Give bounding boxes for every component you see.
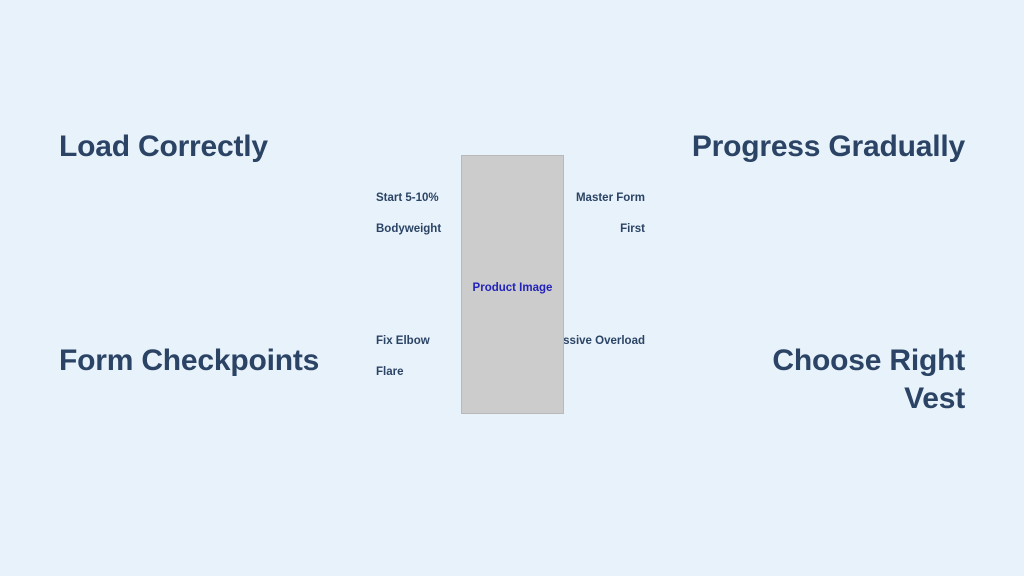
callout-master-form-first: Master Form First: [576, 183, 645, 245]
callout-fix-elbow-flare: Fix Elbow Flare: [376, 326, 430, 388]
product-image-placeholder: Product Image: [461, 155, 564, 414]
product-image-placeholder-label: Product Image: [462, 281, 563, 295]
slide-canvas: Load Correctly Progress Gradually Form C…: [0, 0, 1024, 576]
heading-progress-gradually: Progress Gradually: [692, 128, 965, 166]
heading-load-correctly: Load Correctly: [59, 128, 268, 166]
callout-start-bodyweight: Start 5-10% Bodyweight: [376, 183, 441, 245]
heading-form-checkpoints: Form Checkpoints: [59, 342, 319, 380]
heading-choose-right-vest: Choose Right Vest: [772, 342, 965, 418]
